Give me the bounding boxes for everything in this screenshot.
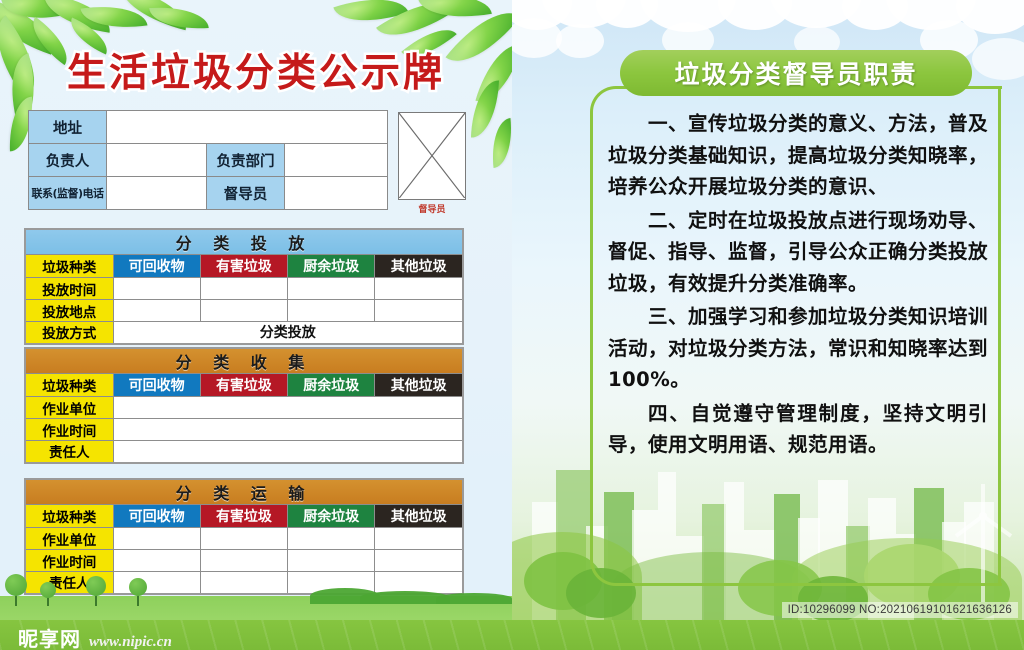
poster-canvas: 生活垃圾分类公示牌 地址 负责人 负责部门 联系(监督)电话 督导员 bbox=[0, 0, 1024, 650]
col-header-recyclable: 可回收物 bbox=[113, 374, 200, 397]
row-label-work-unit: 作业单位 bbox=[25, 397, 113, 419]
info-label-person: 负责人 bbox=[29, 144, 107, 177]
table-classified-collection: 分 类 收 集 垃圾种类 可回收物 有害垃圾 厨余垃圾 其他垃圾 作业单位 作业… bbox=[24, 347, 464, 464]
table-title-row: 分 类 运 输 bbox=[25, 479, 463, 505]
cell-hazardous[interactable] bbox=[200, 528, 287, 550]
row-label-work-time: 作业时间 bbox=[25, 419, 113, 441]
cell-kitchen[interactable] bbox=[288, 300, 375, 322]
duty-paragraph-1: 一、宣传垃圾分类的意义、方法，普及垃圾分类基础知识，提高垃圾分类知晓率，培养公众… bbox=[608, 108, 988, 203]
table-row: 作业单位 bbox=[25, 528, 463, 550]
table-header-row: 垃圾种类 可回收物 有害垃圾 厨余垃圾 其他垃圾 bbox=[25, 505, 463, 528]
cell-recyclable[interactable] bbox=[113, 300, 200, 322]
row-label-disposal-method: 投放方式 bbox=[25, 322, 113, 344]
table-row: 作业时间 bbox=[25, 419, 463, 441]
col-header-hazardous: 有害垃圾 bbox=[200, 505, 287, 528]
info-label-department: 负责部门 bbox=[207, 144, 285, 177]
cell-disposal-method-value[interactable]: 分类投放 bbox=[113, 322, 463, 344]
table-row: 地址 bbox=[29, 111, 388, 144]
row-label-responsible: 责任人 bbox=[25, 441, 113, 463]
info-value-supervisor[interactable] bbox=[285, 177, 388, 210]
table-title: 分 类 运 输 bbox=[25, 479, 463, 505]
cell-recyclable[interactable] bbox=[113, 550, 200, 572]
right-panel: 垃圾分类督导员职责 一、宣传垃圾分类的意义、方法，普及垃圾分类基础知识，提高垃圾… bbox=[512, 0, 1024, 650]
table-row: 联系(监督)电话 督导员 bbox=[29, 177, 388, 210]
duties-text-block: 一、宣传垃圾分类的意义、方法，普及垃圾分类基础知识，提高垃圾分类知晓率，培养公众… bbox=[608, 108, 988, 463]
col-header-other: 其他垃圾 bbox=[375, 374, 463, 397]
table-row: 责任人 bbox=[25, 441, 463, 463]
watermark-brand: 昵享网 bbox=[18, 623, 81, 650]
cell-recyclable[interactable] bbox=[113, 528, 200, 550]
footer-bar: 昵享网 www.nipic.cn bbox=[0, 620, 1024, 650]
duty-paragraph-2: 二、定时在垃圾投放点进行现场劝导、督促、指导、监督，引导公众正确分类投放垃圾，有… bbox=[608, 205, 988, 300]
col-header-kitchen: 厨余垃圾 bbox=[288, 255, 375, 278]
col-header-other: 其他垃圾 bbox=[375, 255, 463, 278]
col-header-category: 垃圾种类 bbox=[25, 505, 113, 528]
left-panel: 生活垃圾分类公示牌 地址 负责人 负责部门 联系(监督)电话 督导员 bbox=[0, 0, 512, 650]
col-header-hazardous: 有害垃圾 bbox=[200, 255, 287, 278]
table-row: 投放时间 bbox=[25, 278, 463, 300]
cell-work-time-value[interactable] bbox=[113, 419, 463, 441]
table-title: 分 类 投 放 bbox=[25, 229, 463, 255]
table-row: 作业单位 bbox=[25, 397, 463, 419]
col-header-recyclable: 可回收物 bbox=[113, 505, 200, 528]
info-table: 地址 负责人 负责部门 联系(监督)电话 督导员 bbox=[28, 110, 388, 210]
duty-paragraph-4: 四、自觉遵守管理制度，坚持文明引导，使用文明用语、规范用语。 bbox=[608, 398, 988, 461]
cell-kitchen[interactable] bbox=[288, 550, 375, 572]
content-frame-border-right bbox=[998, 86, 1001, 586]
cell-recyclable[interactable] bbox=[113, 278, 200, 300]
table-title: 分 类 收 集 bbox=[25, 348, 463, 374]
cell-other[interactable] bbox=[375, 300, 463, 322]
col-header-category: 垃圾种类 bbox=[25, 255, 113, 278]
cell-responsible-value[interactable] bbox=[113, 441, 463, 463]
right-panel-title: 垃圾分类督导员职责 bbox=[620, 50, 972, 96]
cell-other[interactable] bbox=[375, 278, 463, 300]
cell-other[interactable] bbox=[375, 550, 463, 572]
info-label-phone: 联系(监督)电话 bbox=[29, 177, 107, 210]
duty-paragraph-3: 三、加强学习和参加垃圾分类知识培训活动，对垃圾分类方法，常识和知晓率达到100%… bbox=[608, 301, 988, 396]
cell-work-unit-value[interactable] bbox=[113, 397, 463, 419]
table-row: 负责人 负责部门 bbox=[29, 144, 388, 177]
info-label-address: 地址 bbox=[29, 111, 107, 144]
col-header-category: 垃圾种类 bbox=[25, 374, 113, 397]
col-header-recyclable: 可回收物 bbox=[113, 255, 200, 278]
image-id-tag: ID:10296099 NO:20210619101621636126 bbox=[782, 602, 1018, 618]
row-label-work-unit: 作业单位 bbox=[25, 528, 113, 550]
cell-kitchen[interactable] bbox=[288, 528, 375, 550]
supervisor-photo-caption: 督导员 bbox=[398, 202, 466, 215]
watermark-url: www.nipic.cn bbox=[89, 634, 172, 650]
col-header-hazardous: 有害垃圾 bbox=[200, 374, 287, 397]
row-label-disposal-time: 投放时间 bbox=[25, 278, 113, 300]
cell-hazardous[interactable] bbox=[200, 300, 287, 322]
page-title: 生活垃圾分类公示牌 bbox=[0, 42, 512, 98]
cell-hazardous[interactable] bbox=[200, 550, 287, 572]
table-row: 投放地点 bbox=[25, 300, 463, 322]
col-header-kitchen: 厨余垃圾 bbox=[288, 505, 375, 528]
info-value-address[interactable] bbox=[107, 111, 388, 144]
cell-other[interactable] bbox=[375, 528, 463, 550]
table-title-row: 分 类 收 集 bbox=[25, 348, 463, 374]
supervisor-photo-placeholder[interactable] bbox=[398, 112, 466, 200]
table-row: 作业时间 bbox=[25, 550, 463, 572]
info-value-person[interactable] bbox=[107, 144, 207, 177]
cell-hazardous[interactable] bbox=[200, 278, 287, 300]
info-value-department[interactable] bbox=[285, 144, 388, 177]
col-header-other: 其他垃圾 bbox=[375, 505, 463, 528]
table-classified-disposal: 分 类 投 放 垃圾种类 可回收物 有害垃圾 厨余垃圾 其他垃圾 投放时间 投放… bbox=[24, 228, 464, 345]
row-label-disposal-place: 投放地点 bbox=[25, 300, 113, 322]
table-header-row: 垃圾种类 可回收物 有害垃圾 厨余垃圾 其他垃圾 bbox=[25, 374, 463, 397]
watermark: 昵享网 www.nipic.cn bbox=[18, 623, 172, 650]
table-header-row: 垃圾种类 可回收物 有害垃圾 厨余垃圾 其他垃圾 bbox=[25, 255, 463, 278]
row-label-work-time: 作业时间 bbox=[25, 550, 113, 572]
table-row: 投放方式 分类投放 bbox=[25, 322, 463, 344]
cell-kitchen[interactable] bbox=[288, 278, 375, 300]
info-value-phone[interactable] bbox=[107, 177, 207, 210]
col-header-kitchen: 厨余垃圾 bbox=[288, 374, 375, 397]
table-title-row: 分 类 投 放 bbox=[25, 229, 463, 255]
cross-icon bbox=[399, 113, 465, 198]
info-label-supervisor: 督导员 bbox=[207, 177, 285, 210]
